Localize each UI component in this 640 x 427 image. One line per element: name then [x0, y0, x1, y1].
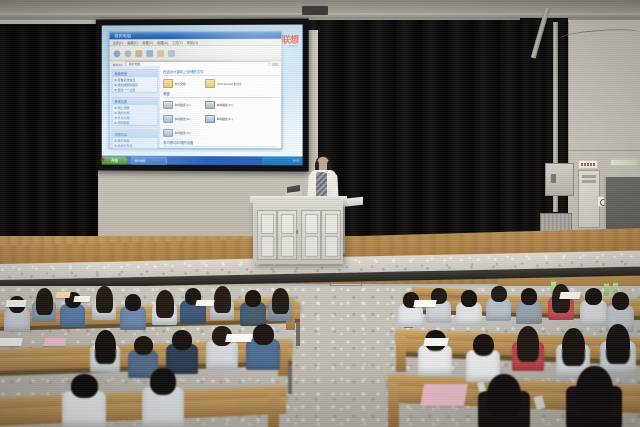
notebook: [55, 292, 70, 298]
task-group-other-places: 其他位置 网上邻居 我的文档 共享文档 控制面板: [112, 97, 159, 126]
list-item[interactable]: 本地磁盘 (D:): [205, 101, 241, 109]
lenovo-logo-sub: Lenovo: [288, 44, 298, 48]
folder-icon: [205, 79, 215, 88]
notebook: [195, 300, 214, 306]
task-link[interactable]: 更改一个设置: [113, 87, 158, 92]
item-label: 本地磁盘 (D:): [217, 103, 234, 107]
side-shelf-leg: [343, 205, 345, 253]
student: [240, 290, 266, 326]
podium-door[interactable]: [321, 210, 341, 260]
aisle-desk-end: [388, 382, 399, 427]
menu-file[interactable]: 文件(F): [113, 40, 124, 45]
person-head: [150, 368, 176, 395]
person-hair: [576, 366, 613, 415]
person-head: [585, 288, 602, 305]
projected-desktop: 联想 Lenovo 我的电脑 文件(F) 编辑(E) 查看(V) 收藏(A) 工…: [102, 25, 303, 166]
red-indicator-light-icon: [101, 158, 104, 161]
drive-icon: [205, 115, 215, 123]
list-item[interactable]: 本地磁盘 (E:): [163, 115, 199, 123]
aisle-desk-end: [396, 336, 406, 372]
item-label: 共享文档: [175, 82, 186, 86]
student: [456, 290, 482, 326]
panel-knob: [551, 174, 556, 183]
drive-icon: [163, 115, 173, 123]
podium-door[interactable]: [301, 210, 321, 260]
wall-seam: [568, 22, 569, 172]
item-label: Administrator 的文档: [217, 81, 242, 85]
notebook: [423, 338, 449, 346]
folder-icon: [163, 79, 173, 88]
notebook: [559, 292, 580, 299]
person-hair: [36, 288, 53, 315]
item-label: 本地磁盘 (C:): [175, 103, 192, 107]
person-head: [125, 294, 141, 311]
student: [398, 292, 423, 327]
person-head: [245, 290, 261, 307]
student: [268, 288, 292, 321]
section-title: 硬盘: [163, 91, 278, 98]
doorway-light: [611, 160, 637, 165]
forward-icon[interactable]: [124, 50, 131, 57]
item-row: 本地磁盘 (C:) 本地磁盘 (D:) 本地磁盘 (E:): [163, 101, 278, 137]
up-icon[interactable]: [135, 50, 142, 57]
lecture-hall-photo: 联想 Lenovo 我的电脑 文件(F) 编辑(E) 查看(V) 收藏(A) 工…: [0, 0, 640, 427]
person-head: [473, 334, 494, 356]
notice-sign: [578, 160, 598, 169]
item-label: 本地磁盘 (E:): [175, 117, 191, 121]
projection-screen: 联想 Lenovo 我的电脑 文件(F) 编辑(E) 查看(V) 收藏(A) 工…: [96, 18, 309, 171]
system-tray-clock[interactable]: 10:21: [262, 156, 302, 165]
task-pane: 系统任务 查看系统信息 添加或删除程序 更改一个设置 其他位置 网上邻居 我的文…: [110, 66, 161, 148]
folders-icon[interactable]: [157, 50, 164, 57]
item-label: 本地磁盘 (G:): [175, 131, 192, 135]
student: [548, 284, 574, 320]
podium-door[interactable]: [257, 210, 277, 260]
list-item[interactable]: 本地磁盘 (F:): [205, 115, 241, 123]
student: [120, 294, 146, 330]
stage-curtain-left: [0, 24, 98, 260]
student: [142, 368, 184, 427]
person-head: [521, 288, 537, 305]
section-title: 在这台计算机上存储的文件: [163, 69, 278, 76]
item-row: 共享文档 Administrator 的文档: [163, 79, 278, 88]
menu-help[interactable]: 帮助(H): [187, 40, 198, 45]
student: [516, 288, 542, 324]
student: [486, 286, 511, 321]
bench-leg: [296, 322, 300, 346]
item-label: 本地磁盘 (F:): [217, 117, 233, 121]
notebook: [413, 300, 436, 307]
person-head: [461, 290, 477, 307]
person-hair: [96, 286, 113, 313]
window-body: 系统任务 查看系统信息 添加或删除程序 更改一个设置 其他位置 网上邻居 我的文…: [110, 66, 282, 148]
podium-handle[interactable]: [296, 230, 298, 234]
bench-leg: [288, 366, 292, 394]
pink-notebook: [420, 384, 468, 406]
person-head: [491, 286, 507, 302]
person-head: [253, 324, 274, 345]
person-hair: [487, 374, 521, 416]
person-hair: [156, 290, 174, 318]
views-icon[interactable]: [168, 50, 175, 57]
student: [478, 374, 530, 427]
student: [92, 286, 116, 320]
person-hair: [517, 326, 539, 362]
podium-door[interactable]: [277, 210, 297, 260]
list-item[interactable]: 共享文档: [163, 79, 199, 88]
person-head: [134, 336, 153, 355]
person-hair: [95, 330, 116, 364]
student: [180, 288, 206, 324]
pink-notebook: [43, 338, 67, 346]
menu-tools[interactable]: 工具(T): [172, 40, 183, 45]
student: [32, 288, 56, 322]
back-icon[interactable]: [114, 50, 121, 57]
student: [62, 374, 106, 427]
notebook: [0, 338, 23, 346]
list-item[interactable]: 本地磁盘 (G:): [163, 129, 199, 137]
student: [246, 324, 280, 370]
section-title: 有可移动存储的设备: [163, 140, 278, 147]
projection-surface: 联想 Lenovo 我的电脑 文件(F) 编辑(E) 查看(V) 收藏(A) 工…: [102, 25, 303, 166]
person-head: [71, 374, 98, 398]
list-item[interactable]: Administrator 的文档: [205, 79, 241, 88]
student: [206, 326, 238, 370]
person-head: [172, 330, 192, 350]
ceiling-mounted-box: [302, 6, 328, 15]
toolbar[interactable]: [110, 46, 282, 61]
person-hair: [562, 328, 585, 366]
start-button[interactable]: 开始: [102, 156, 128, 164]
student: [512, 326, 544, 371]
person-hair: [606, 324, 630, 364]
taskbar-task[interactable]: 我的电脑: [131, 156, 167, 164]
stage-curtain-center: [318, 20, 540, 265]
drive-icon: [163, 101, 173, 109]
menu-view[interactable]: 查看(V): [142, 40, 153, 45]
student: [152, 290, 177, 325]
junction-box: [545, 163, 574, 196]
drive-icon: [205, 101, 215, 109]
person-head: [612, 292, 629, 310]
content-pane: 在这台计算机上存储的文件 共享文档 Administrator 的文档: [160, 66, 281, 148]
switch-row: [582, 180, 596, 183]
drive-icon: [163, 129, 173, 137]
task-group-heading: 系统任务: [113, 70, 158, 77]
aisle-desk-end: [268, 390, 279, 427]
student: [580, 288, 607, 326]
task-group-heading: 其他位置: [113, 98, 158, 105]
window-title: 我的电脑: [115, 33, 132, 39]
notebook: [225, 334, 253, 342]
task-group-details: 详细信息 我的电脑 系统文件夹: [112, 130, 159, 149]
person-hair: [272, 288, 289, 314]
student: [90, 330, 120, 372]
explorer-window[interactable]: 我的电脑 文件(F) 编辑(E) 查看(V) 收藏(A) 工具(T) 帮助(H): [109, 31, 283, 150]
student: [418, 330, 452, 376]
switch-row: [582, 175, 596, 178]
search-icon[interactable]: [146, 50, 153, 57]
notebook: [5, 300, 26, 307]
task-link[interactable]: 系统文件夹: [113, 143, 158, 148]
task-link[interactable]: 控制面板: [113, 120, 158, 125]
menu-favorites[interactable]: 收藏(A): [157, 40, 168, 45]
taskbar[interactable]: 开始 我的电脑 10:21: [102, 156, 303, 166]
task-group-system: 系统任务 查看系统信息 添加或删除程序 更改一个设置: [112, 69, 159, 93]
student: [566, 366, 622, 427]
podium: [253, 200, 343, 264]
notebook: [73, 296, 90, 302]
menu-edit[interactable]: 编辑(E): [127, 40, 138, 45]
person-hair: [214, 286, 231, 313]
list-item[interactable]: 本地磁盘 (C:): [163, 101, 199, 109]
